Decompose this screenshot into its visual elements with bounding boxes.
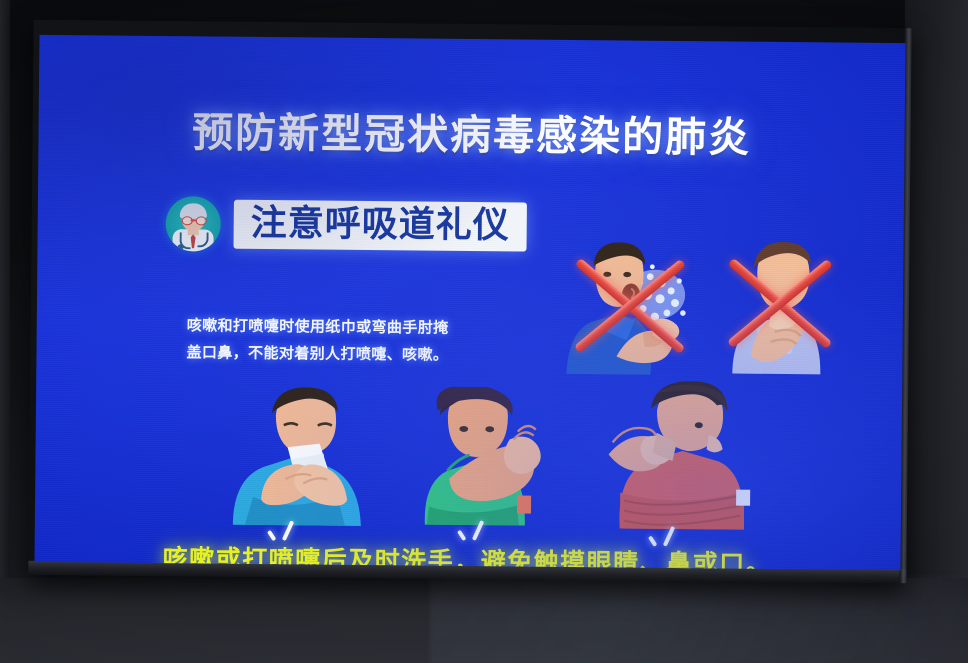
body-line-2: 盖口鼻，不能对着别人打喷嚏、咳嗽。 [186,339,516,369]
white-check-mark [461,517,485,543]
illustration-wrong-bare-hand-cover [716,235,849,376]
wall-right-panel [905,0,968,600]
television-chassis: 预防新型冠状病毒感染的肺炎 [28,20,911,583]
body-copy: 咳嗽和打喷嚏时使用纸巾或弯曲手肘掩 盖口鼻，不能对着别人打喷嚏、咳嗽。 [186,312,517,369]
health-poster-slide: 预防新型冠状病毒感染的肺炎 [34,35,905,570]
tv-screen-panel: 预防新型冠状病毒感染的肺炎 [34,35,905,570]
illustration-wrong-open-sneeze [556,236,707,377]
headline-text: 注意呼吸道礼仪 [251,204,510,244]
headline-row: 注意呼吸道礼仪 [165,196,527,254]
wall-seam [0,0,10,663]
doctor-avatar-icon [165,196,221,252]
illustration-right-tissue [225,387,396,529]
body-line-1: 咳嗽和打喷嚏时使用纸巾或弯曲手肘掩 [187,312,517,342]
illustration-right-shoulder-sleeve [590,380,766,532]
illustration-right-elbow-child [413,386,574,528]
headline-banner: 注意呼吸道礼仪 [233,200,526,252]
photograph-of-tv-screen: 预防新型冠状病毒感染的肺炎 [0,0,968,663]
floor-reflection [430,576,968,663]
poster-title: 预防新型冠状病毒感染的肺炎 [38,97,905,165]
